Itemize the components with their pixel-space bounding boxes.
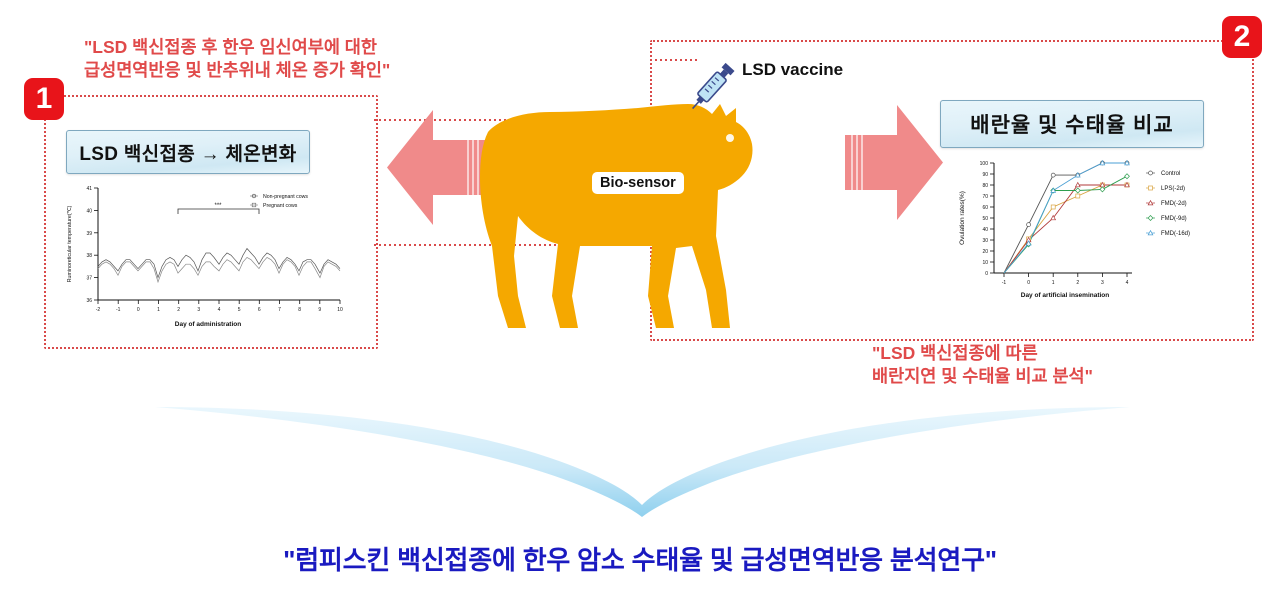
- ovulation-chart: 01020 304050 607080 90100 -101 234 Day o…: [942, 155, 1232, 305]
- svg-text:7: 7: [278, 307, 281, 313]
- badge-number-1: 1: [24, 78, 64, 120]
- svg-text:70: 70: [982, 194, 988, 200]
- svg-text:FMD(-9d): FMD(-9d): [1161, 216, 1187, 222]
- svg-text:4: 4: [218, 307, 221, 313]
- svg-text:41: 41: [86, 186, 92, 192]
- svg-text:80: 80: [982, 183, 988, 189]
- svg-text:5: 5: [238, 307, 241, 313]
- ovulation-ylabel: Ovulation rates(%): [959, 191, 966, 245]
- ovulation-xlabel: Day of artificial insemination: [1021, 292, 1110, 299]
- svg-text:0: 0: [985, 271, 988, 277]
- syringe-icon: [682, 56, 742, 118]
- svg-text:9: 9: [318, 307, 321, 313]
- svg-text:1: 1: [1052, 280, 1055, 286]
- svg-text:6: 6: [258, 307, 261, 313]
- svg-text:***: ***: [214, 203, 222, 209]
- temperature-legend: Non-pregnant cows Pregnant cows: [250, 194, 308, 209]
- poster-canvas: 1 2 "LSD 백신접종 후 한우 임신여부에 대한 급성면역반응 및 반추위…: [0, 0, 1280, 613]
- svg-text:39: 39: [86, 231, 92, 237]
- page-title: "럼피스킨 백신접종에 한우 암소 수태율 및 급성면역반응 분석연구": [0, 540, 1280, 577]
- lsd-vaccine-label: LSD vaccine: [742, 60, 843, 80]
- svg-text:3: 3: [197, 307, 200, 313]
- svg-text:38: 38: [86, 253, 92, 259]
- svg-text:2: 2: [177, 307, 180, 313]
- svg-text:Non-pregnant cows: Non-pregnant cows: [263, 194, 308, 200]
- svg-text:37: 37: [86, 276, 92, 282]
- arrow-right: [840, 105, 945, 220]
- svg-text:40: 40: [86, 208, 92, 214]
- svg-text:4: 4: [1126, 280, 1129, 286]
- quote-top-left: "LSD 백신접종 후 한우 임신여부에 대한 급성면역반응 및 반추위내 체온…: [84, 36, 390, 82]
- svg-text:2: 2: [1076, 280, 1079, 286]
- box-title-temperature: LSD 백신접종 → 체온변화: [66, 130, 310, 174]
- ovulation-legend: Control LPS(-2d) FMD(-2d) FMD(-9d) FMD(-…: [1146, 171, 1190, 237]
- svg-text:60: 60: [982, 205, 988, 211]
- svg-text:-1: -1: [116, 307, 121, 313]
- temperature-xlabel: Day of administration: [175, 321, 241, 328]
- svg-text:10: 10: [982, 260, 988, 266]
- svg-text:3: 3: [1101, 280, 1104, 286]
- funnel-arrow: [155, 405, 1130, 520]
- svg-text:10: 10: [337, 307, 343, 313]
- quote-bottom-right: "LSD 백신접종에 따른 배란지연 및 수태율 비교 분석": [872, 342, 1093, 388]
- svg-text:0: 0: [137, 307, 140, 313]
- svg-text:FMD(-16d): FMD(-16d): [1161, 231, 1190, 237]
- svg-text:FMD(-2d): FMD(-2d): [1161, 201, 1187, 207]
- badge-number-2: 2: [1222, 16, 1262, 58]
- svg-text:40: 40: [982, 227, 988, 233]
- svg-text:30: 30: [982, 238, 988, 244]
- svg-text:36: 36: [86, 298, 92, 304]
- box-title-ovulation: 배란율 및 수태율 비교: [940, 100, 1204, 148]
- svg-text:Control: Control: [1161, 171, 1180, 177]
- temperature-chart-svg: 36 37 38 39 40 41 -2-10 123 456: [58, 180, 358, 335]
- svg-text:-2: -2: [96, 307, 101, 313]
- bio-sensor-label: Bio-sensor: [592, 172, 684, 194]
- ovulation-chart-svg: 01020 304050 607080 90100 -101 234 Day o…: [942, 155, 1232, 305]
- svg-text:100: 100: [980, 161, 989, 167]
- svg-text:1: 1: [157, 307, 160, 313]
- svg-text:20: 20: [982, 249, 988, 255]
- temperature-ylabel: Ruminoreticular temperature(℃): [67, 205, 73, 282]
- svg-text:90: 90: [982, 172, 988, 178]
- svg-text:0: 0: [1027, 280, 1030, 286]
- svg-text:LPS(-2d): LPS(-2d): [1161, 186, 1185, 192]
- svg-text:-1: -1: [1002, 280, 1007, 286]
- temperature-chart: 36 37 38 39 40 41 -2-10 123 456: [58, 180, 358, 335]
- svg-text:8: 8: [298, 307, 301, 313]
- svg-text:Pregnant cows: Pregnant cows: [263, 203, 298, 209]
- svg-text:50: 50: [982, 216, 988, 222]
